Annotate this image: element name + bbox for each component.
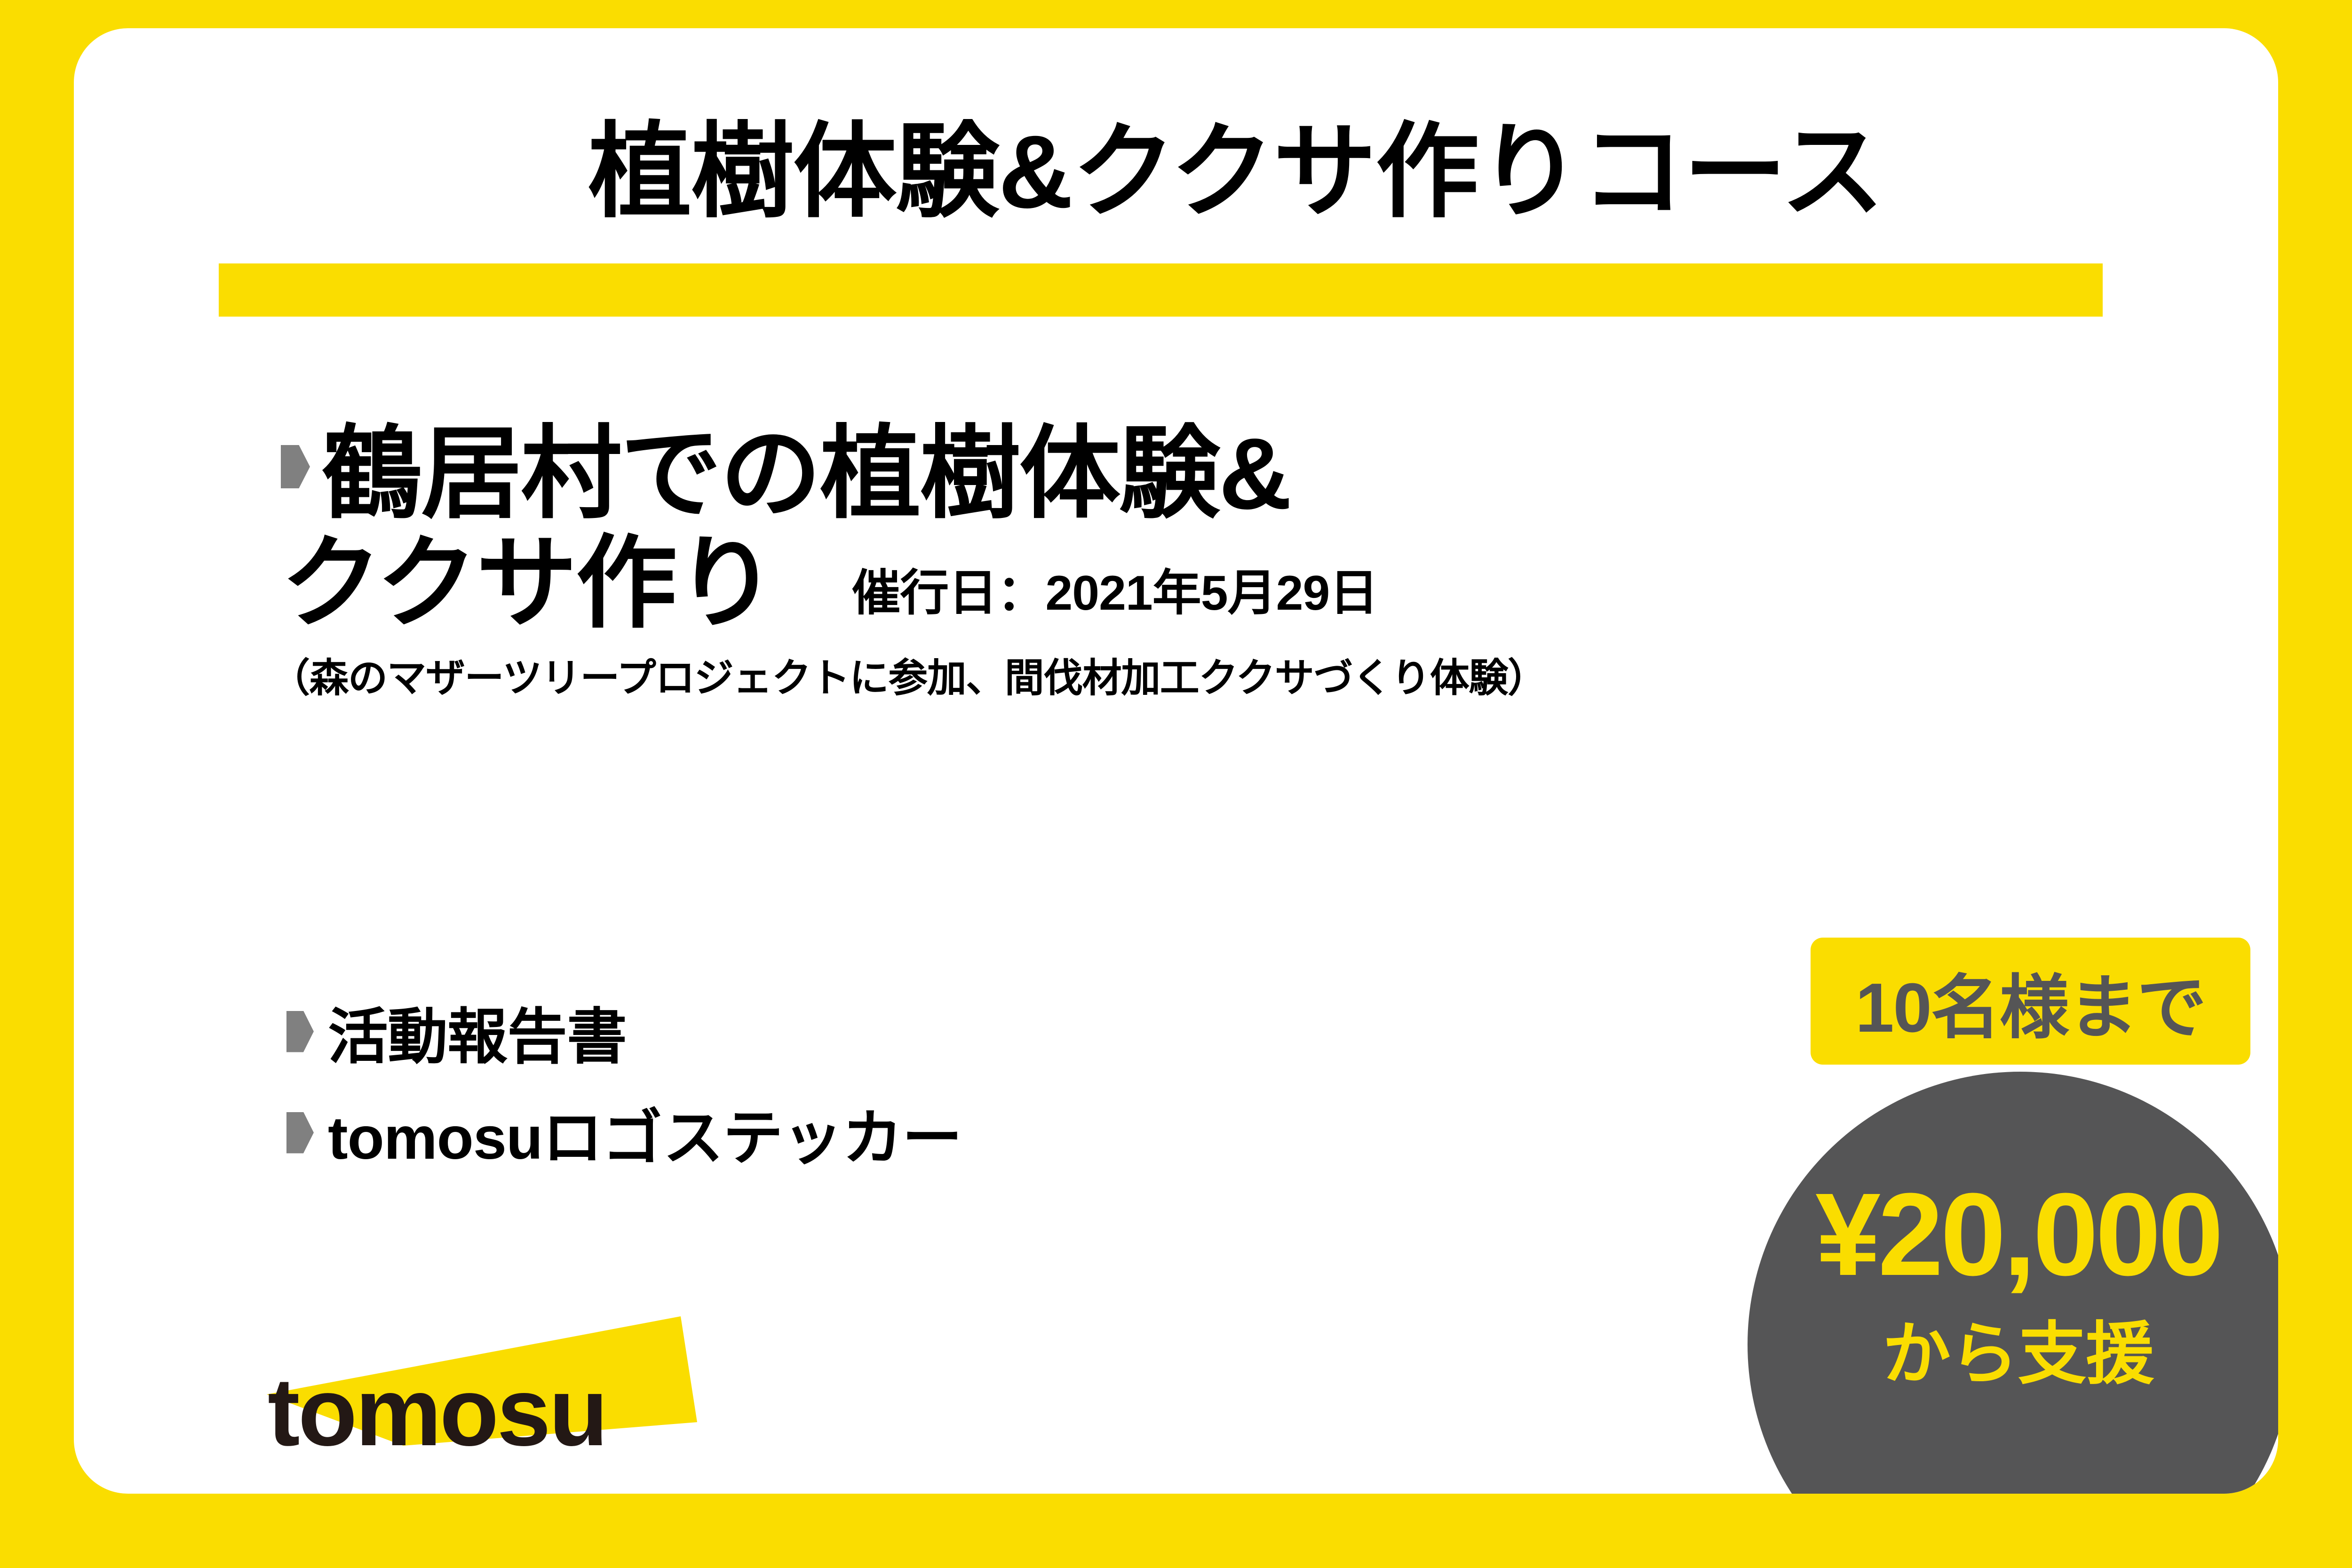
perk-label: 活動報告書: [328, 988, 627, 1075]
course-sub-note: （森のマザーツリープロジェクトに参加、間伐材加工ククサづくり体験）: [270, 646, 2209, 703]
course-title: 植樹体験&ククサ作りコース: [220, 118, 2252, 226]
course-title-wrap: 植樹体験&ククサ作りコース: [220, 118, 2252, 292]
capacity-badge: 10名様まで: [1811, 938, 2250, 1065]
list-item: tomosuロゴステッカー: [286, 1089, 1604, 1176]
bullet-pentagon-icon: [286, 1112, 314, 1154]
perks-list: 活動報告書 tomosuロゴステッカー: [286, 988, 1604, 1190]
capacity-label: 10名様まで: [1855, 951, 2206, 1052]
tomosu-logo: tomosu: [262, 1289, 732, 1477]
price-suffix: から支援: [1736, 1298, 2300, 1397]
main-heading-line-2: ククサ作り: [281, 527, 775, 640]
perk-label: tomosuロゴステッカー: [328, 1089, 962, 1176]
event-date: 催行日：2021年5月29日: [851, 553, 1378, 624]
main-heading-row-2: ククサ作り 催行日：2021年5月29日: [281, 527, 2209, 640]
main-heading-line-1: 鶴居村での植樹体験&: [321, 414, 1290, 533]
main-heading-block: 鶴居村での植樹体験& ククサ作り 催行日：2021年5月29日 （森のマザーツリ…: [281, 414, 2209, 703]
list-item: 活動報告書: [286, 988, 1604, 1075]
price-amount: ¥20,000: [1736, 1167, 2300, 1302]
bullet-pentagon-icon: [281, 445, 310, 488]
main-heading-row-1: 鶴居村での植樹体験&: [281, 414, 2209, 533]
tomosu-wordmark: tomosu: [268, 1363, 606, 1460]
bullet-pentagon-icon: [286, 1011, 314, 1052]
